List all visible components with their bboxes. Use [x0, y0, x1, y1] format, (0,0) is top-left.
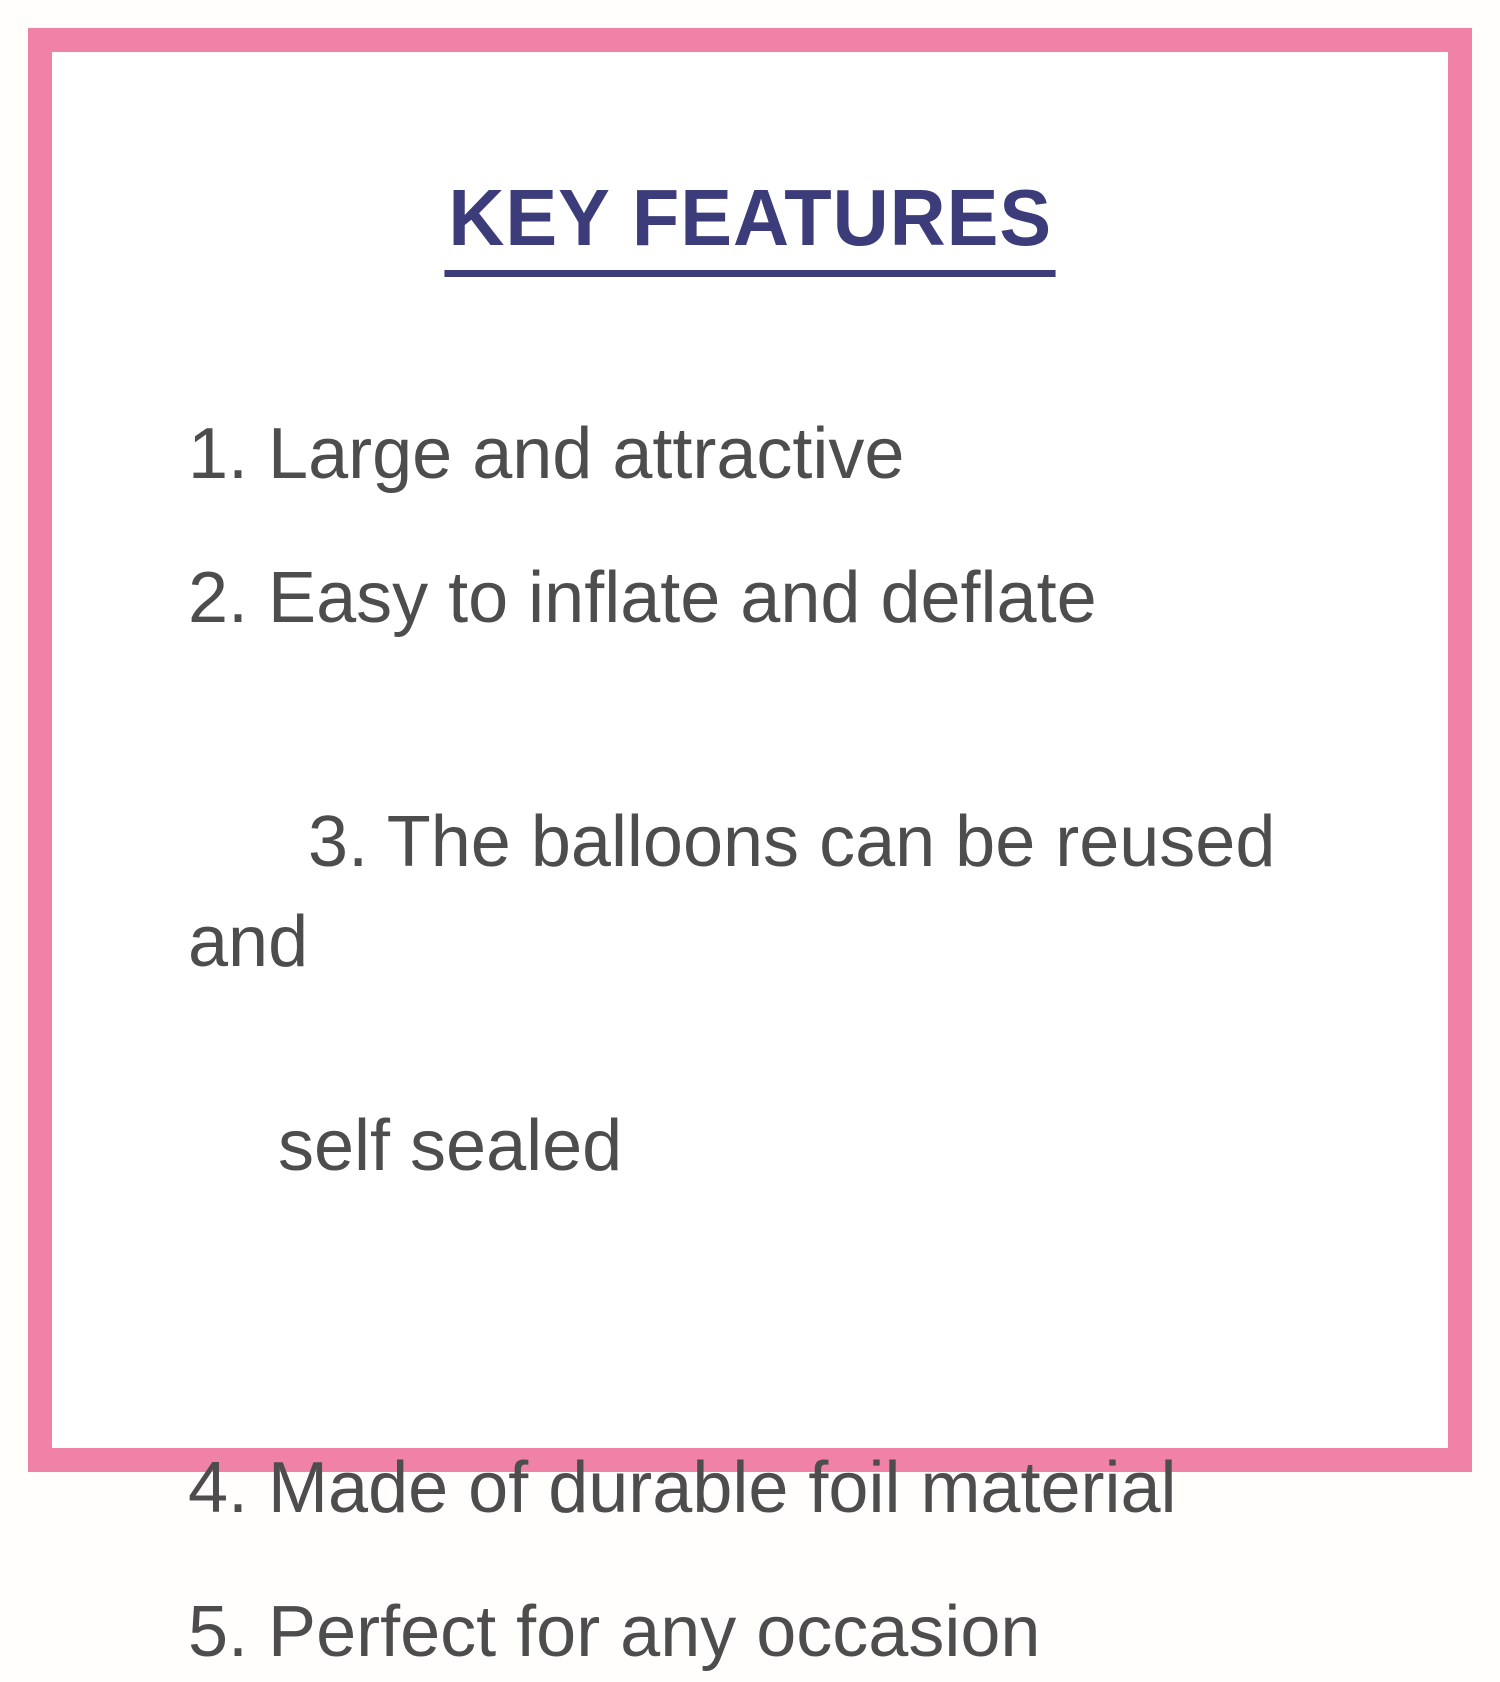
page-title: KEY FEATURES: [444, 176, 1056, 277]
list-item: 3. The balloons can be reused and self s…: [188, 692, 1368, 1396]
list-item-line-2: self sealed: [188, 1096, 1368, 1196]
page-title-block: KEY FEATURES: [0, 176, 1500, 277]
list-item: 1. Large and attractive: [188, 404, 1368, 504]
key-features-poster: KEY FEATURES 1. Large and attractive 2. …: [0, 0, 1500, 1500]
list-item: 4. Made of durable foil material: [188, 1438, 1368, 1538]
list-item: 2. Easy to inflate and deflate: [188, 548, 1368, 648]
list-item-line-1: 3. The balloons can be reused and: [188, 802, 1295, 982]
features-list: 1. Large and attractive 2. Easy to infla…: [188, 404, 1368, 1682]
list-item: 5. Perfect for any occasion: [188, 1582, 1368, 1682]
